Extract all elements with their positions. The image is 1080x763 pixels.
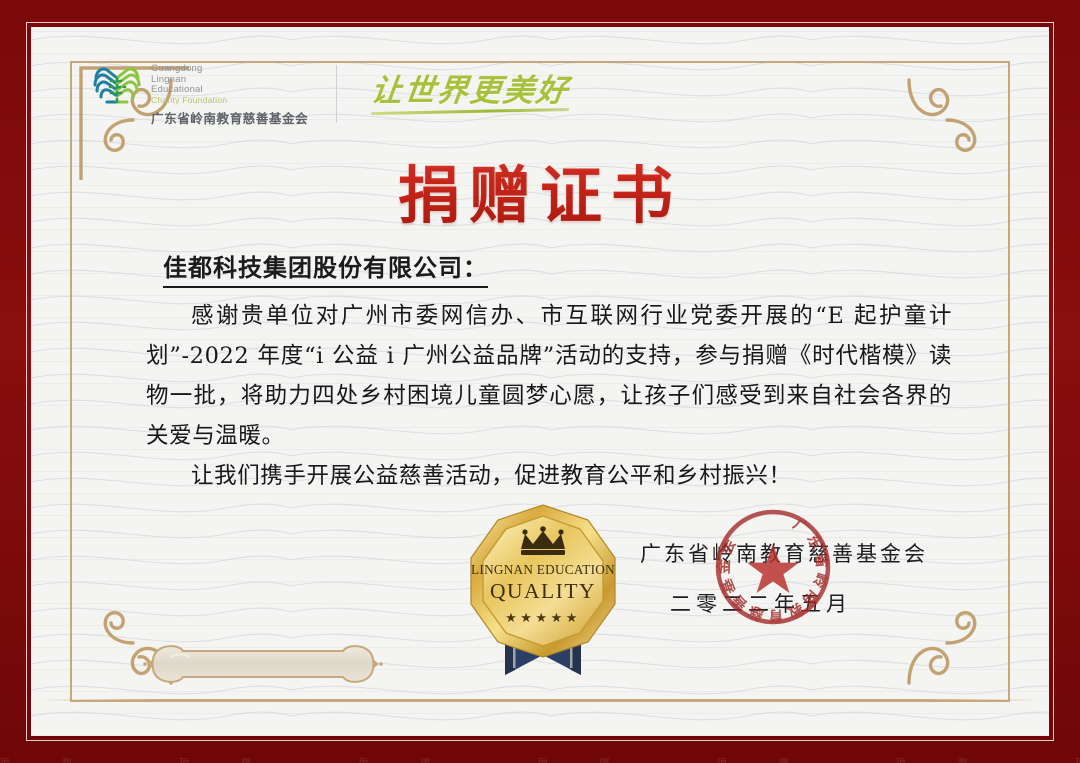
medal-line-1: LINGNAN EDUCATION bbox=[471, 562, 615, 577]
bottom-gold-rule bbox=[40, 699, 1040, 701]
slogan-block: 让世界更美好 bbox=[371, 76, 569, 113]
medal-line-2: QUALITY bbox=[490, 579, 596, 603]
official-red-seal: 广东省岭南教育慈善基金会 bbox=[712, 506, 834, 628]
slogan-text: 让世界更美好 bbox=[369, 76, 571, 107]
medal-stars: ★★★★★ bbox=[505, 611, 581, 626]
body-paragraph-2: 让我们携手开展公益慈善活动，促进教育公平和乡村振兴！ bbox=[146, 456, 952, 496]
bottom-cartouche-plaque bbox=[143, 643, 383, 685]
logo-en-line-4: Charity Foundation bbox=[151, 96, 308, 106]
certificate-title: 捐赠证书 bbox=[0, 145, 1080, 235]
quality-medal-seal: LINGNAN EDUCATION QUALITY ★★★★★ bbox=[463, 503, 623, 678]
body-paragraph-1: 感谢贵单位对广州市委网信办、市互联网行业党委开展的“E 起护童计划”-2022 … bbox=[146, 296, 952, 456]
bottom-watermark-strip: 捐赠 捐赠 捐赠 捐赠 捐赠 捐赠 捐赠 捐赠 捐赠 bbox=[0, 758, 1080, 763]
certificate-header: Guangdong Lingnan Educational Charity Fo… bbox=[92, 62, 569, 127]
seal-star-icon bbox=[747, 544, 799, 593]
foundation-logo: Guangdong Lingnan Educational Charity Fo… bbox=[92, 62, 308, 127]
header-divider bbox=[336, 65, 337, 123]
certificate-root: Guangdong Lingnan Educational Charity Fo… bbox=[0, 0, 1080, 763]
logo-chinese-name: 广东省岭南教育慈善基金会 bbox=[151, 108, 308, 127]
heart-logo-icon bbox=[92, 62, 142, 108]
recipient-name: 佳都科技集团股份有限公司： bbox=[163, 248, 488, 288]
certificate-body: 感谢贵单位对广州市委网信办、市互联网行业党委开展的“E 起护童计划”-2022 … bbox=[146, 296, 952, 496]
